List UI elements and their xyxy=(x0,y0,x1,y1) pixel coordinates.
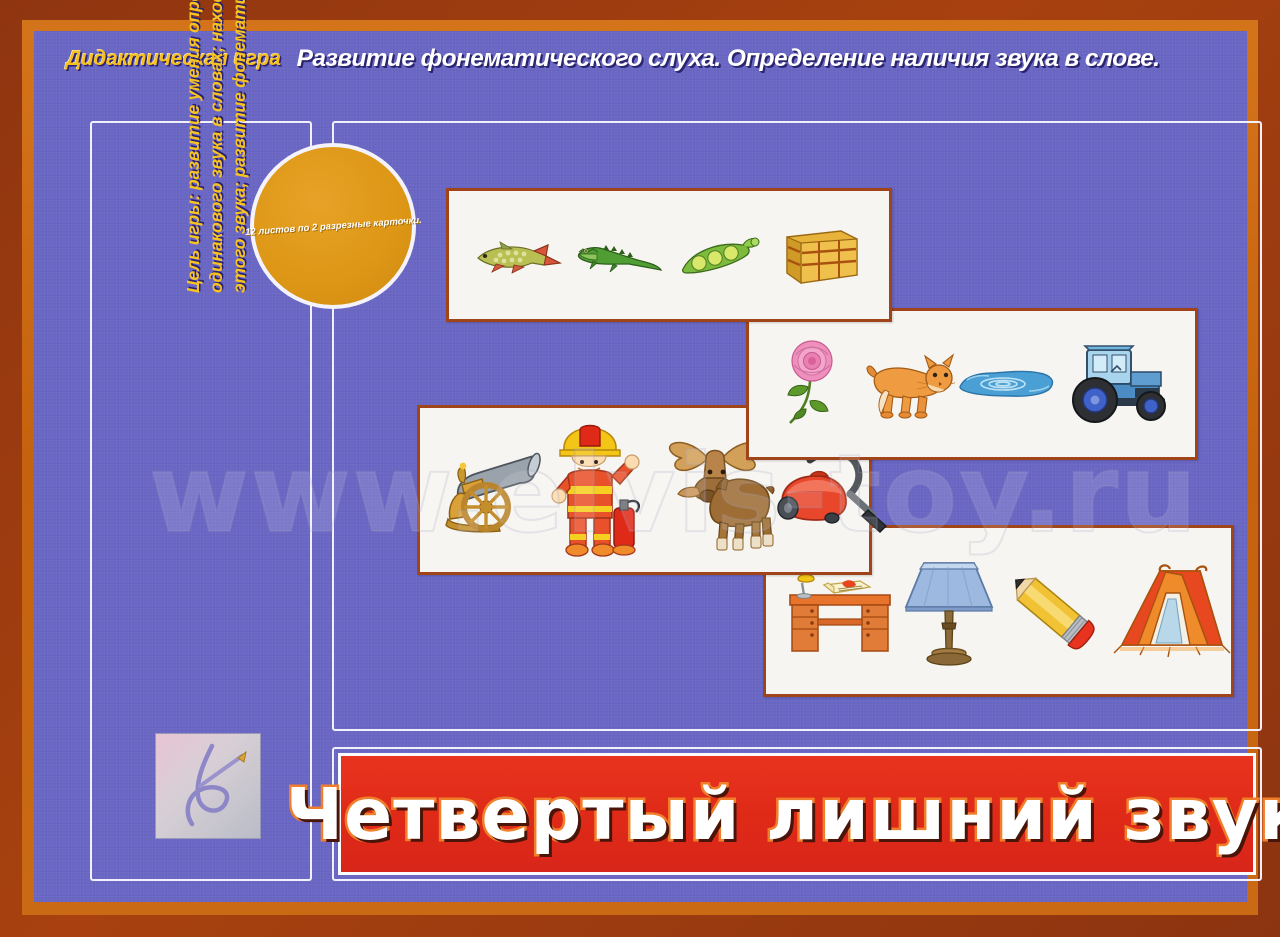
pea-pod-picture xyxy=(669,191,770,319)
goal-text: Цель игры: развитие умения определять на… xyxy=(182,0,250,293)
rose-picture xyxy=(767,311,859,457)
sheet-count-badge: 12 листов по 2 разрезные карточки. xyxy=(250,143,416,309)
sheet-count-label: 12 листов по 2 разрезные карточки. xyxy=(244,214,421,237)
firefighter-picture xyxy=(548,408,648,572)
tractor-picture xyxy=(1059,311,1177,457)
puddle-picture xyxy=(955,311,1059,457)
pike-fish-picture xyxy=(467,191,568,319)
tent-picture xyxy=(1104,528,1232,694)
main-title-banner: Четвертый лишний звук xyxy=(338,753,1256,875)
cannon-picture xyxy=(438,408,548,572)
poster: Дидактическая игра Развитие фонематическ… xyxy=(0,0,1280,937)
page-title: Развитие фонематического слуха. Определе… xyxy=(297,45,1160,73)
pencil-picture xyxy=(998,528,1104,694)
picture-card[interactable] xyxy=(446,188,892,322)
publisher-logo xyxy=(155,733,261,839)
crocodile-picture xyxy=(568,191,669,319)
lynx-picture xyxy=(859,311,955,457)
main-title: Четвертый лишний звук xyxy=(286,773,1280,856)
picture-card[interactable] xyxy=(746,308,1198,460)
poster-content-area: Дидактическая игра Развитие фонематическ… xyxy=(34,31,1247,902)
wooden-crate-picture xyxy=(770,191,871,319)
table-lamp-picture xyxy=(900,528,998,694)
